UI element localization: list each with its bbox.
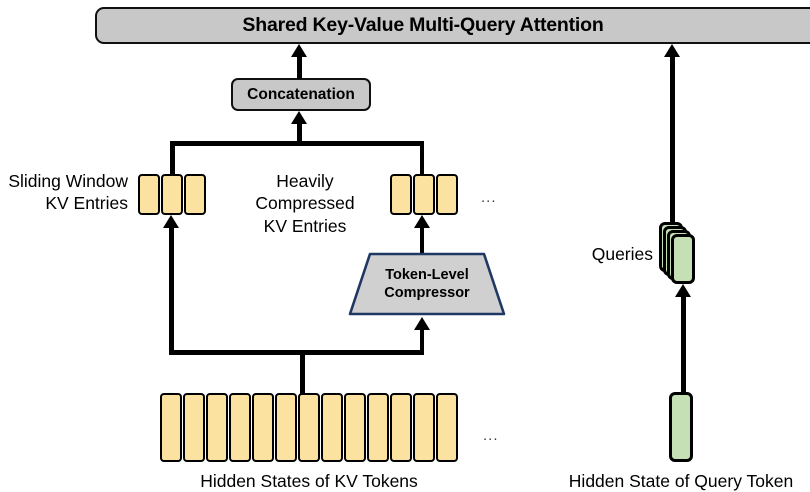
kv-token-cell[interactable] — [321, 393, 343, 462]
compressed-kv-cell[interactable] — [436, 174, 458, 215]
concatenation-label: Concatenation — [247, 86, 355, 104]
queries-label: Queries — [545, 243, 653, 265]
kv-token-cell[interactable] — [436, 393, 458, 462]
kv-tokens-ellipsis: ... — [483, 428, 499, 443]
heavily-compressed-label: Heavily Compressed KV Entries — [230, 170, 380, 237]
split-bracket-horizontal — [169, 350, 424, 355]
arrowhead-to-queries — [675, 284, 691, 297]
kv-token-cell[interactable] — [229, 393, 251, 462]
kv-token-cell[interactable] — [275, 393, 297, 462]
connector-queries-to-banner — [670, 57, 675, 225]
merge-bracket-right-riser — [420, 141, 425, 177]
sliding-window-label: Sliding Window KV Entries — [0, 170, 128, 215]
shared-attention-banner-label: Shared Key-Value Multi-Query Attention — [242, 14, 603, 37]
queries-stack-cell[interactable] — [671, 234, 695, 284]
kv-token-cell[interactable] — [252, 393, 274, 462]
concatenation-box[interactable]: Concatenation — [231, 78, 371, 111]
merge-bracket-stem — [297, 124, 302, 143]
compressed-kv-cell[interactable] — [390, 174, 412, 215]
kv-token-cell[interactable] — [367, 393, 389, 462]
arrowhead-to-compressor — [414, 317, 430, 330]
kv-token-cell[interactable] — [206, 393, 228, 462]
hidden-states-kv-label: Hidden States of KV Tokens — [159, 470, 459, 492]
arrowhead-concat-to-banner — [291, 44, 307, 57]
diagram-canvas: Shared Key-Value Multi-Query Attention C… — [0, 0, 810, 492]
sliding-window-cell[interactable] — [161, 174, 183, 215]
hidden-state-query-label: Hidden State of Query Token — [551, 470, 810, 492]
merge-bracket-left-riser — [170, 141, 175, 177]
arrowhead-to-compressed-kv — [414, 215, 430, 228]
kv-token-cell[interactable] — [344, 393, 366, 462]
token-level-compressor[interactable]: Token-Level Compressor — [348, 252, 506, 316]
compressor-shape — [348, 252, 506, 316]
arrowhead-to-sliding-window — [163, 215, 179, 228]
connector-kv-to-sliding-window — [169, 228, 174, 354]
compressed-kv-ellipsis: ... — [481, 190, 497, 205]
kv-token-cell[interactable] — [183, 393, 205, 462]
connector-query-state-to-queries — [681, 297, 686, 392]
compressed-kv-cell[interactable] — [413, 174, 435, 215]
shared-attention-banner[interactable]: Shared Key-Value Multi-Query Attention — [95, 7, 810, 44]
sliding-window-cell[interactable] — [184, 174, 206, 215]
connector-concat-to-banner — [297, 56, 302, 79]
kv-token-cell[interactable] — [160, 393, 182, 462]
kv-token-cell[interactable] — [298, 393, 320, 462]
split-bracket-stem — [300, 350, 305, 395]
query-hidden-state-cell[interactable] — [669, 392, 693, 462]
connector-compressor-to-compressed-kv — [420, 228, 425, 254]
kv-token-cell[interactable] — [413, 393, 435, 462]
kv-token-cell[interactable] — [390, 393, 412, 462]
arrowhead-queries-to-banner — [664, 44, 680, 57]
sliding-window-cell[interactable] — [138, 174, 160, 215]
arrowhead-merge-to-concat — [291, 111, 307, 124]
